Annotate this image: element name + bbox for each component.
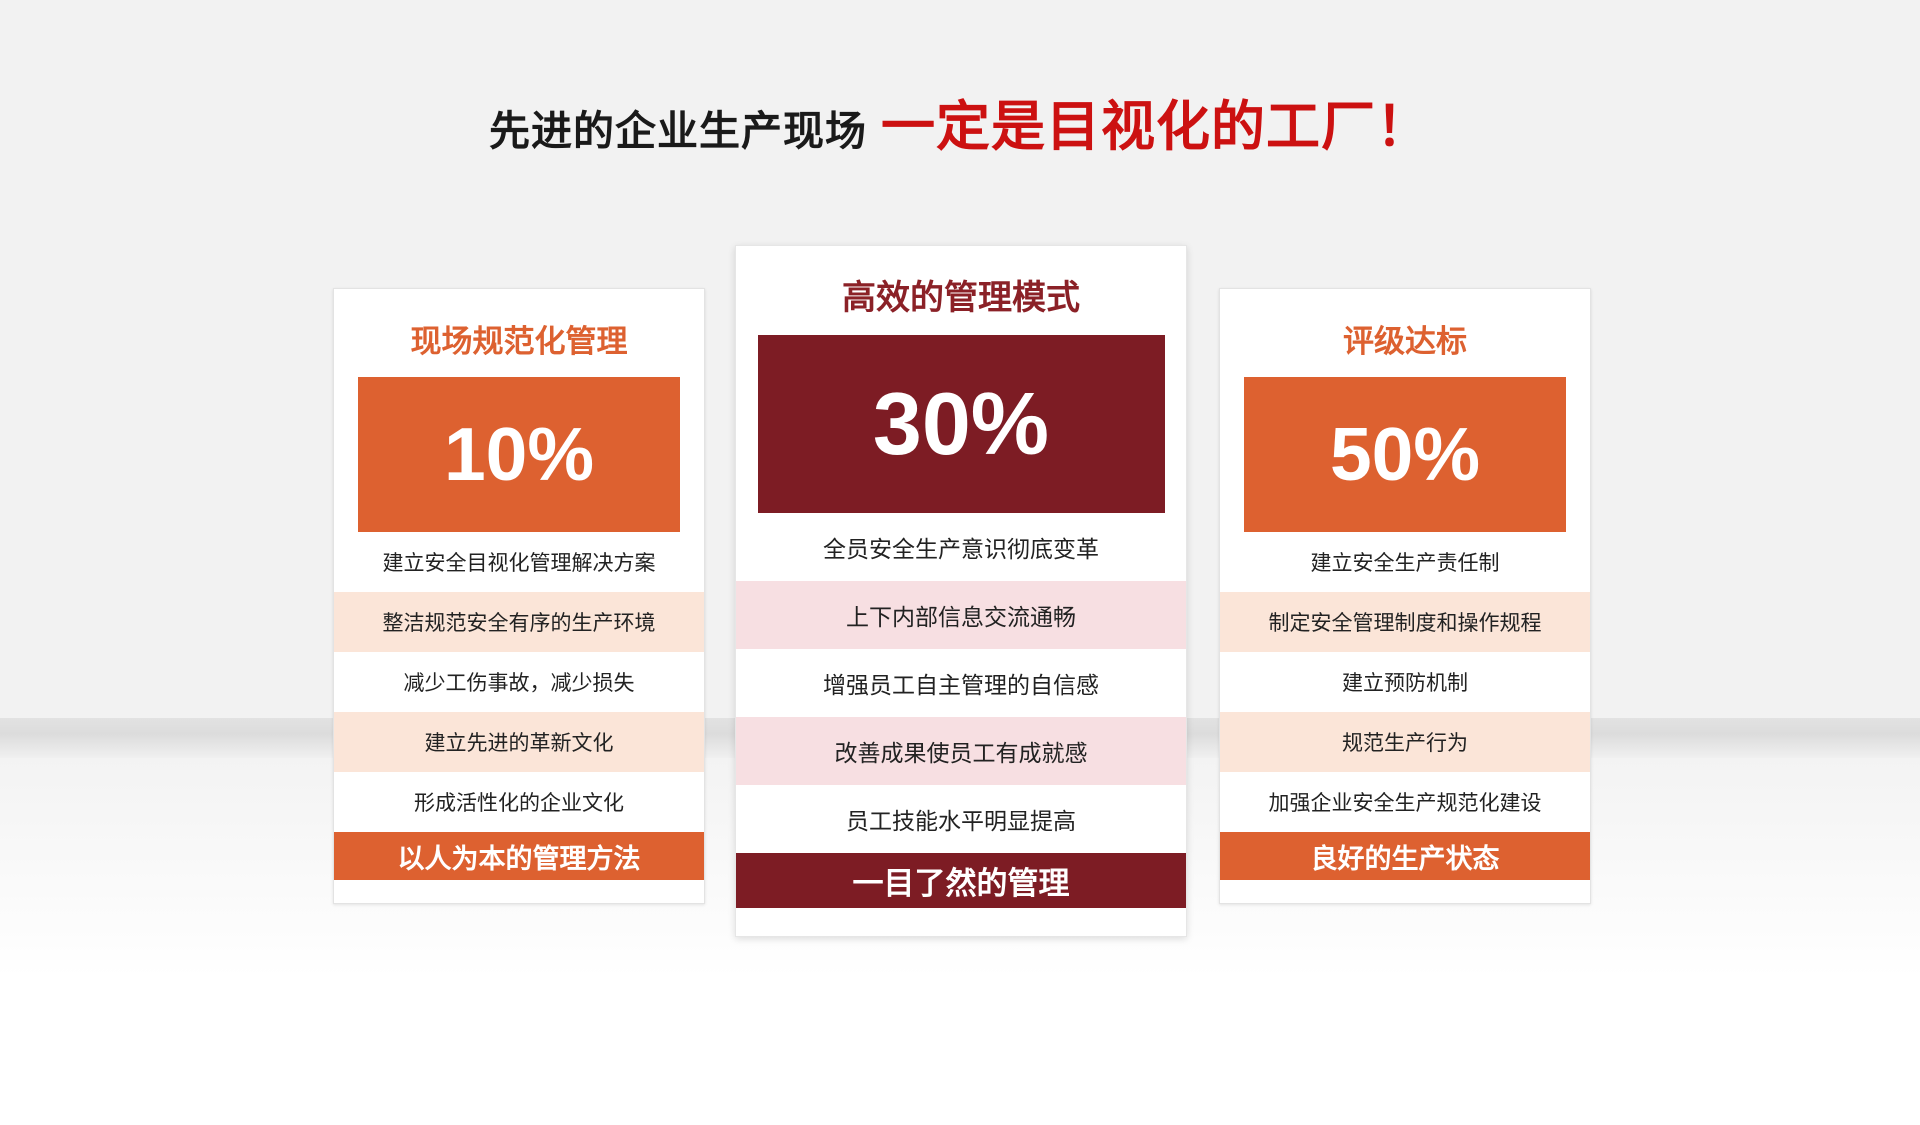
page-title: 先进的企业生产现场一定是目视化的工厂！ (0, 82, 1920, 161)
card-banner: 以人为本的管理方法 (334, 832, 704, 880)
card-percent-badge: 30% (758, 335, 1165, 513)
card-percent-badge: 50% (1244, 377, 1566, 532)
list-item: 形成活性化的企业文化 (334, 772, 704, 832)
metric-card-right[interactable]: 评级达标 50% 建立安全生产责任制 制定安全管理制度和操作规程 建立预防机制 … (1219, 288, 1591, 904)
card-heading: 高效的管理模式 (736, 246, 1186, 335)
slide-stage: 先进的企业生产现场一定是目视化的工厂！ 现场规范化管理 10% 建立安全目视化管… (0, 0, 1920, 1125)
card-item-list: 建立安全目视化管理解决方案 整洁规范安全有序的生产环境 减少工伤事故，减少损失 … (334, 532, 704, 832)
page-title-highlight: 一定是目视化的工厂！ (881, 97, 1431, 157)
list-item: 上下内部信息交流通畅 (736, 581, 1186, 649)
card-banner: 一目了然的管理 (736, 853, 1186, 908)
card-banner: 良好的生产状态 (1220, 832, 1590, 880)
list-item: 全员安全生产意识彻底变革 (736, 513, 1186, 581)
card-percent-badge: 10% (358, 377, 680, 532)
card-heading: 评级达标 (1220, 289, 1590, 377)
page-title-lead: 先进的企业生产现场 (489, 108, 867, 154)
list-item: 加强企业安全生产规范化建设 (1220, 772, 1590, 832)
list-item: 建立先进的革新文化 (334, 712, 704, 772)
list-item: 建立安全生产责任制 (1220, 532, 1590, 592)
card-heading: 现场规范化管理 (334, 289, 704, 377)
list-item: 改善成果使员工有成就感 (736, 717, 1186, 785)
card-item-list: 全员安全生产意识彻底变革 上下内部信息交流通畅 增强员工自主管理的自信感 改善成… (736, 513, 1186, 853)
list-item: 建立预防机制 (1220, 652, 1590, 712)
list-item: 增强员工自主管理的自信感 (736, 649, 1186, 717)
list-item: 员工技能水平明显提高 (736, 785, 1186, 853)
list-item: 整洁规范安全有序的生产环境 (334, 592, 704, 652)
metric-card-center[interactable]: 高效的管理模式 30% 全员安全生产意识彻底变革 上下内部信息交流通畅 增强员工… (735, 245, 1187, 937)
metric-card-left[interactable]: 现场规范化管理 10% 建立安全目视化管理解决方案 整洁规范安全有序的生产环境 … (333, 288, 705, 904)
list-item: 减少工伤事故，减少损失 (334, 652, 704, 712)
card-item-list: 建立安全生产责任制 制定安全管理制度和操作规程 建立预防机制 规范生产行为 加强… (1220, 532, 1590, 832)
list-item: 规范生产行为 (1220, 712, 1590, 772)
list-item: 制定安全管理制度和操作规程 (1220, 592, 1590, 652)
list-item: 建立安全目视化管理解决方案 (334, 532, 704, 592)
